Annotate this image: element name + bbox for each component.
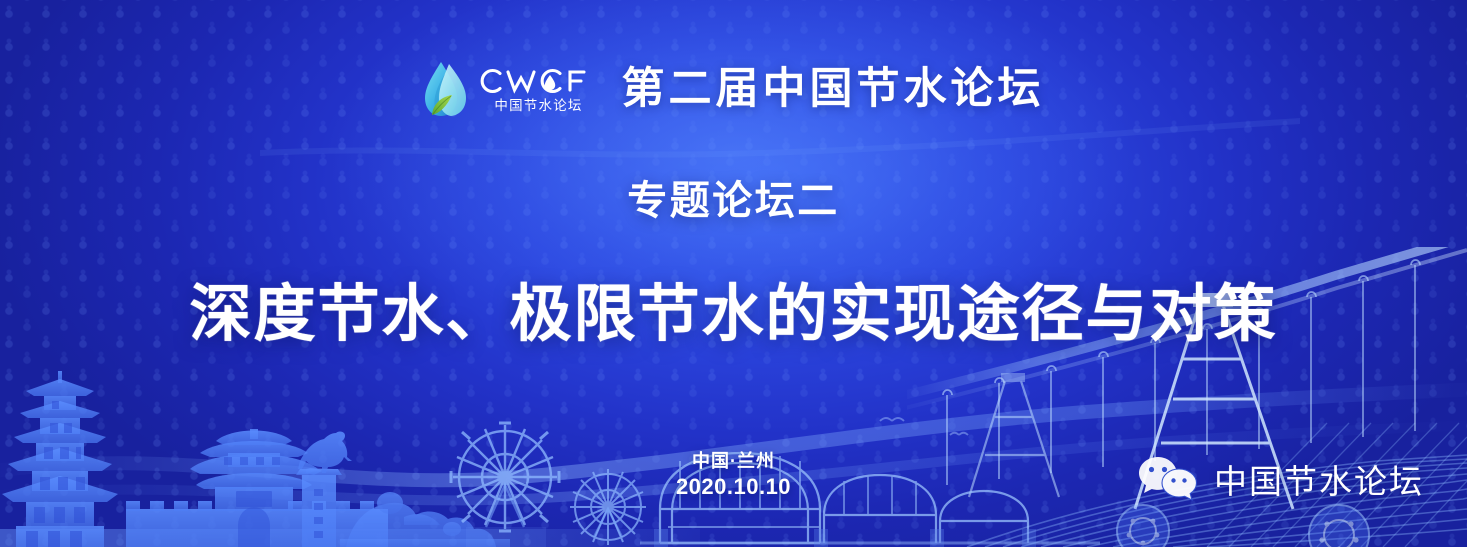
wechat-watermark: 中国节水论坛 — [1138, 455, 1424, 507]
cwcf-acronym-icon — [478, 66, 600, 96]
brand-title: 第二届中国节水论坛 — [622, 68, 1045, 111]
banner-header: 中国节水论坛 第二届中国节水论坛 — [0, 58, 1467, 120]
conference-banner: 中国节水论坛 第二届中国节水论坛 专题论坛二 深度节水、极限节水的实现途径与对策… — [0, 0, 1467, 547]
logo-wordmark: 中国节水论坛 — [478, 66, 600, 113]
logo-acronym — [478, 66, 600, 96]
forum-headline: 深度节水、极限节水的实现途径与对策 — [0, 284, 1467, 346]
forum-session-label: 专题论坛二 — [0, 181, 1467, 221]
wechat-account-name: 中国节水论坛 — [1214, 465, 1424, 498]
logo-subtitle: 中国节水论坛 — [478, 99, 600, 113]
bird-icons — [880, 418, 968, 435]
cwcf-logo: 中国节水论坛 — [423, 58, 600, 120]
wechat-icon — [1138, 455, 1200, 507]
water-droplet-leaf-icon — [423, 60, 469, 118]
